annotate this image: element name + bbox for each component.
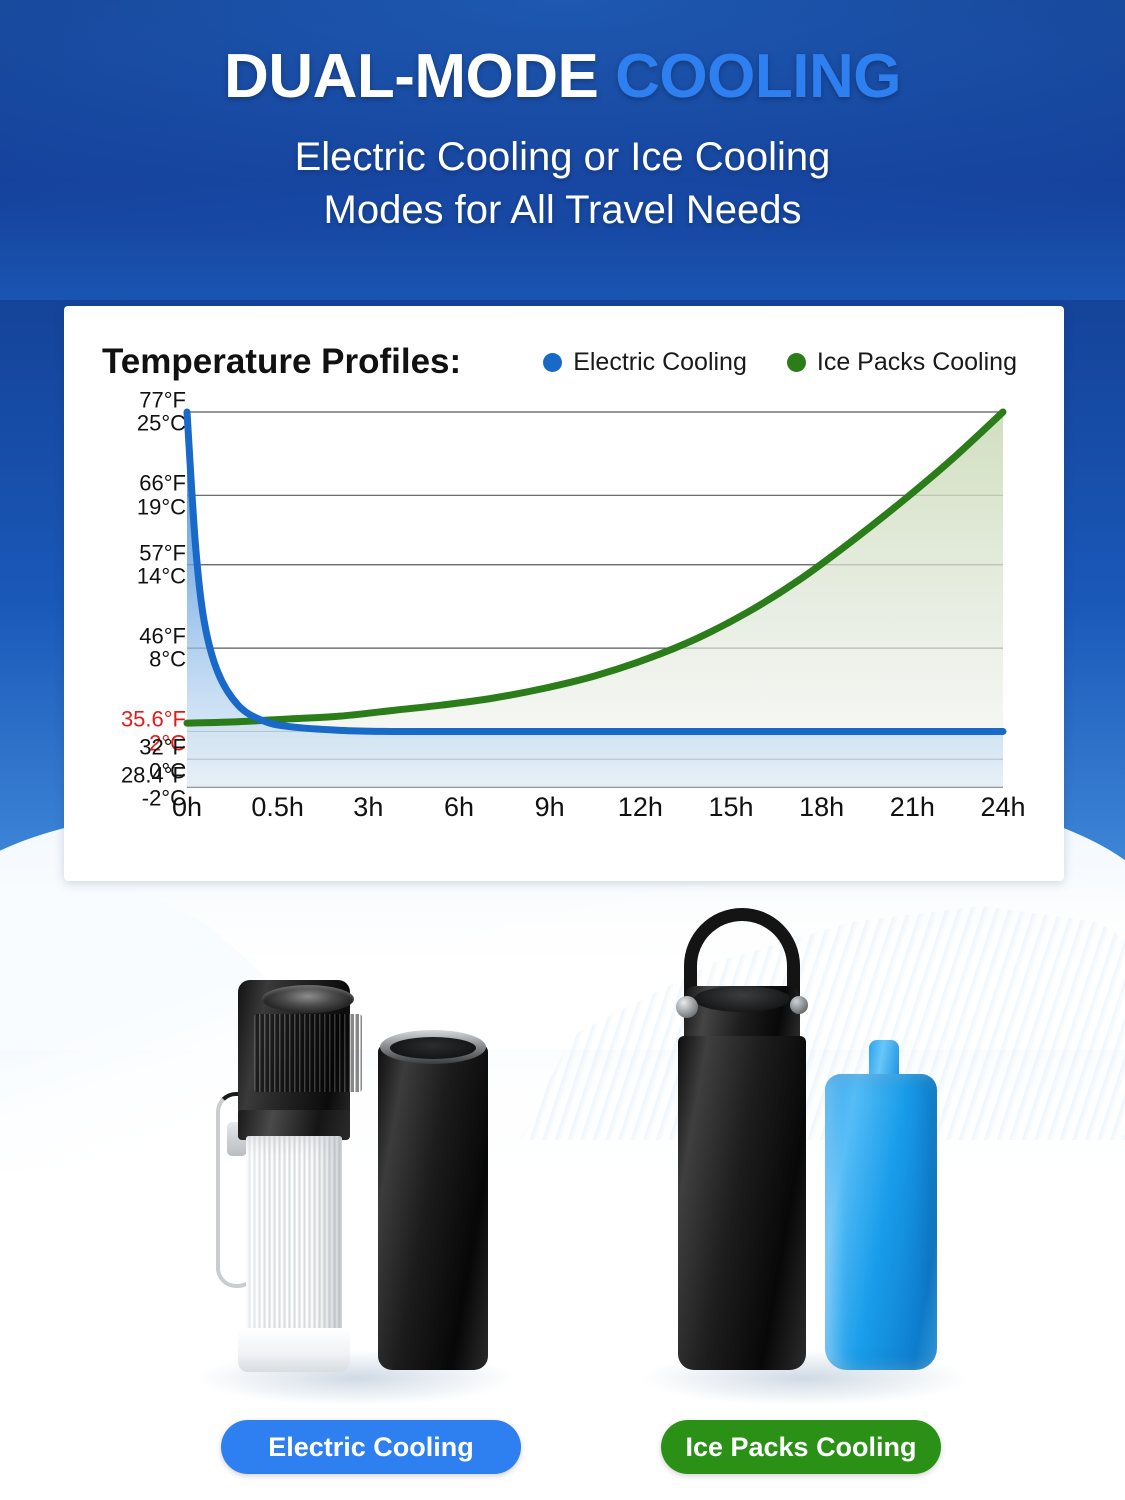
header: DUAL-MODE COOLING Electric Cooling or Ic… (0, 0, 1125, 237)
chart-header: Temperature Profiles: Electric Cooling I… (102, 336, 1038, 388)
x-tick-2: 3h (353, 792, 383, 823)
subtitle-line-2: Modes for All Travel Needs (0, 184, 1125, 237)
y-tick-celsius: 19°C (137, 495, 186, 518)
y-tick-fahrenheit: 77°F (137, 389, 186, 412)
legend-dot-icon-ice (787, 353, 806, 372)
cooler-cap (238, 980, 350, 1118)
chart-plot-area (187, 412, 1003, 787)
product-photos (0, 880, 1125, 1440)
cooler-base (238, 1328, 350, 1372)
x-tick-3: 6h (444, 792, 474, 823)
x-tick-7: 18h (799, 792, 844, 823)
handle-pin-left (676, 996, 698, 1018)
cap-vent-grill (254, 1014, 362, 1092)
y-tick-celsius: 8°C (139, 648, 186, 671)
x-tick-1: 0.5h (251, 792, 304, 823)
badge-electric-cooling[interactable]: Electric Cooling (221, 1420, 521, 1474)
chart-plot-wrapper: 77°F25°C66°F19°C57°F14°C46°F8°C35.6°F2°C… (64, 412, 1064, 832)
y-tick-2: 57°F14°C (137, 541, 186, 588)
cooler-ribbed-body (246, 1136, 342, 1346)
page-subtitle: Electric Cooling or Ice Cooling Modes fo… (0, 131, 1125, 237)
insulated-bottle-with-handle (668, 908, 816, 1370)
title-accent: COOLING (615, 42, 901, 111)
x-tick-6: 15h (708, 792, 753, 823)
x-axis-labels: 0h0.5h3h6h9h12h15h18h21h24h (187, 792, 1023, 832)
chart-title: Temperature Profiles: (102, 342, 461, 382)
legend-item-electric: Electric Cooling (543, 348, 747, 377)
y-tick-celsius: 14°C (137, 565, 186, 588)
x-tick-8: 21h (890, 792, 935, 823)
badge-ice-packs-cooling[interactable]: Ice Packs Cooling (661, 1420, 941, 1474)
chart-legend: Electric Cooling Ice Packs Cooling (543, 348, 1017, 377)
cap-vent-top (262, 985, 354, 1013)
y-tick-celsius: 25°C (137, 412, 186, 435)
y-tick-0: 77°F25°C (137, 389, 186, 436)
x-tick-0: 0h (172, 792, 202, 823)
ice-pack-body (825, 1074, 937, 1370)
y-tick-3: 46°F8°C (139, 625, 186, 672)
temperature-chart-card: Temperature Profiles: Electric Cooling I… (64, 306, 1064, 881)
y-tick-fahrenheit: 32°F (139, 736, 186, 759)
legend-dot-icon-electric (543, 353, 562, 372)
legend-label-ice: Ice Packs Cooling (817, 348, 1017, 377)
mode-badges: Electric Cooling Ice Packs Cooling (0, 1420, 1125, 1480)
black-tumbler (378, 1022, 488, 1370)
legend-item-ice: Ice Packs Cooling (787, 348, 1017, 377)
y-axis-labels: 77°F25°C66°F19°C57°F14°C46°F8°C35.6°F2°C… (64, 412, 190, 787)
bottle-body (678, 1036, 806, 1370)
x-tick-5: 12h (618, 792, 663, 823)
bottle-opening (694, 986, 790, 1012)
legend-label-electric: Electric Cooling (573, 348, 747, 377)
electric-cooler-unit (224, 980, 364, 1370)
chart-svg (187, 412, 1003, 787)
tumbler-opening (390, 1037, 476, 1059)
y-tick-fahrenheit: 46°F (139, 625, 186, 648)
page-title: DUAL-MODE COOLING (0, 44, 1125, 109)
y-tick-1: 66°F19°C (137, 472, 186, 519)
blue-ice-pack (825, 1040, 937, 1370)
y-tick-fahrenheit: 28.4°F (121, 764, 186, 787)
y-tick-fahrenheit: 66°F (137, 472, 186, 495)
y-tick-fahrenheit: 57°F (137, 541, 186, 564)
x-tick-9: 24h (980, 792, 1025, 823)
x-tick-4: 9h (535, 792, 565, 823)
title-primary: DUAL-MODE (224, 42, 598, 111)
y-tick-fahrenheit: 35.6°F (121, 708, 186, 731)
handle-pin-right (790, 996, 808, 1014)
tumbler-body (378, 1044, 488, 1370)
subtitle-line-1: Electric Cooling or Ice Cooling (0, 131, 1125, 184)
